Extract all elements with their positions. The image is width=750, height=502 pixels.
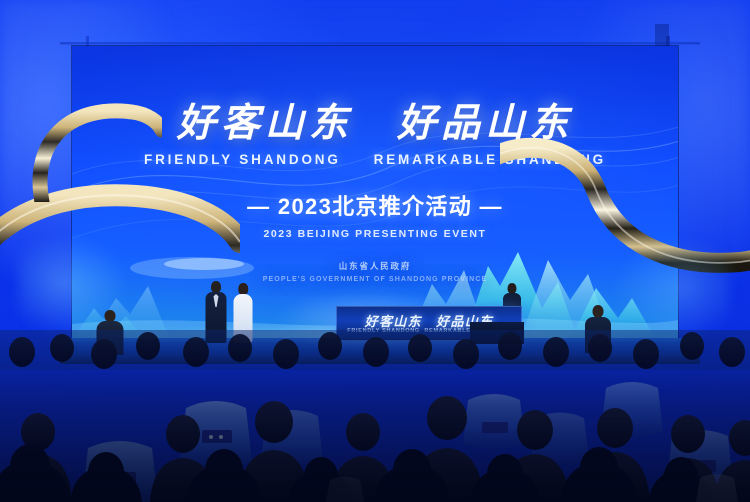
screen-title-cn: 好客山东 好品山东	[72, 104, 678, 143]
screen-text-block: 好客山东 好品山东 FRIENDLY SHANDONG REMARKABLE S…	[72, 104, 678, 283]
main-led-screen: 好客山东 好品山东 FRIENDLY SHANDONG REMARKABLE S…	[72, 46, 678, 342]
screen-event-en: 2023 BEIJING PRESENTING EVENT	[72, 228, 678, 240]
screen-organizer-cn: 山东省人民政府	[72, 260, 678, 272]
screen-event-cn: — 2023北京推介活动 —	[72, 189, 678, 221]
screen-title-en: FRIENDLY SHANDONG REMARKABLE SHANDONG	[72, 152, 678, 167]
audience-darkening-haze	[0, 330, 750, 502]
screen-organizer-en: PEOPLE'S GOVERNMENT OF SHANDONG PROVINCE	[72, 276, 678, 283]
conference-stage-photo: 好客山东 好品山东 FRIENDLY SHANDONG REMARKABLE S…	[0, 0, 750, 502]
audience-area	[0, 330, 750, 502]
